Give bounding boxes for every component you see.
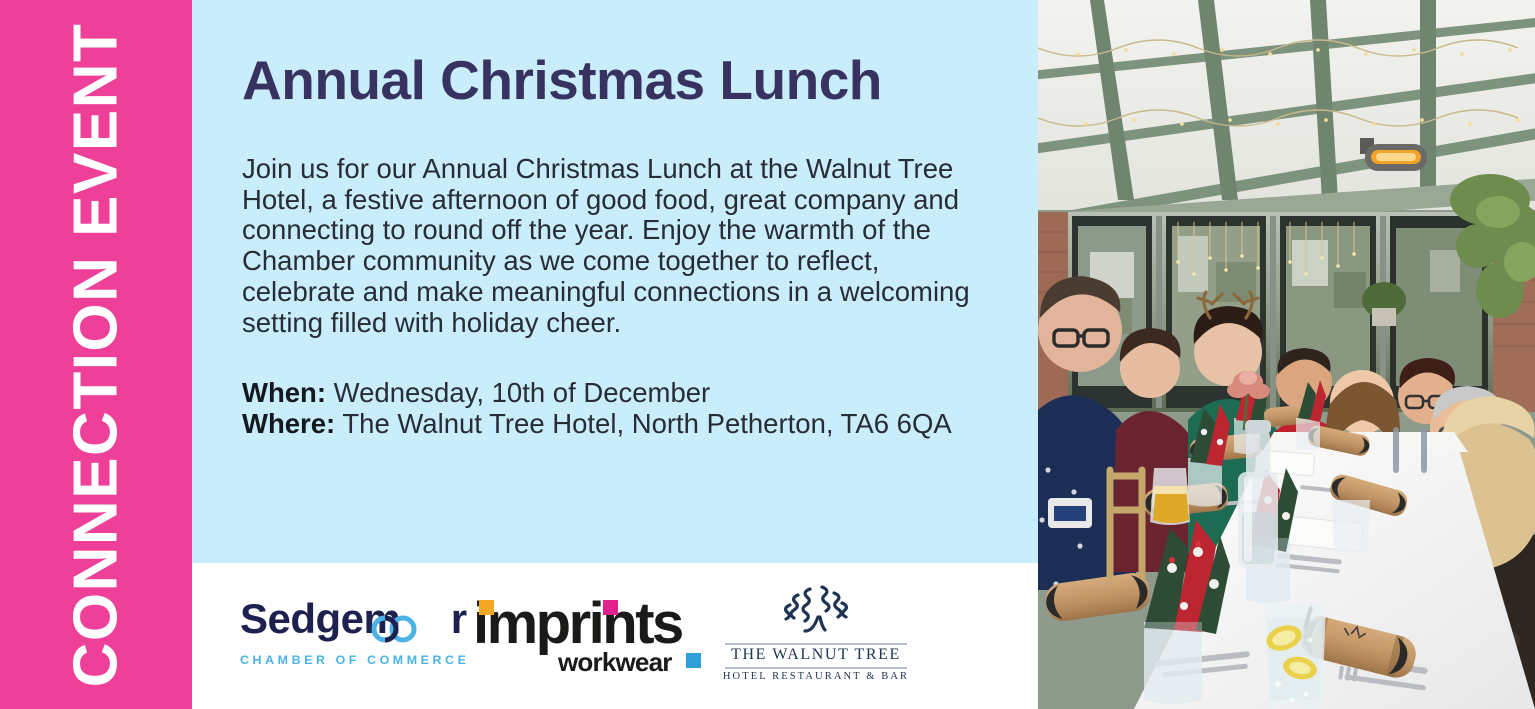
sedgemoor-wordmark-after: r [451,595,467,642]
sedgemoor-tagline: CHAMBER OF COMMERCE [240,653,475,667]
content-inner: Annual Christmas Lunch Join us for our A… [242,52,1002,440]
where-label: Where: [242,408,335,439]
divider-middle [725,667,907,669]
sedgemoor-wordmark: Sedgemoor [240,596,475,642]
event-details: When: Wednesday, 10th of December Where:… [242,377,1002,440]
detail-row-when: When: Wednesday, 10th of December [242,377,1002,409]
walnut-tree-subline: HOTEL RESTAURANT & BAR [721,671,911,682]
when-value: Wednesday, 10th of December [326,377,710,408]
detail-row-where: Where: The Walnut Tree Hotel, North Peth… [242,408,1002,440]
when-label: When: [242,377,326,408]
logo-imprints-workwear: imprints workwear [473,593,693,679]
where-value: The Walnut Tree Hotel, North Petherton, … [335,408,952,439]
sidebar-event-type-label: CONNECTION EVENT [61,22,132,687]
stylized-tree-icon [768,583,863,641]
orange-square-dot-icon [479,600,494,615]
chain-link-icon [371,606,419,634]
logo-sedgemoor-chamber: Sedgemoor CHAMBER OF COMMERCE [240,596,475,676]
event-description: Join us for our Annual Christmas Lunch a… [242,154,977,339]
sidebar-banner: CONNECTION EVENT [0,0,192,709]
imprints-subline: workwear [558,649,672,675]
divider-top [725,643,907,645]
event-photo [1038,0,1535,709]
blue-square-icon [686,653,701,668]
content-panel: Annual Christmas Lunch Join us for our A… [192,0,1038,563]
page-title: Annual Christmas Lunch [242,52,1002,110]
sponsor-logo-strip: Sedgemoor CHAMBER OF COMMERCE imprints w… [192,563,1038,709]
imprints-wordmark: imprints [473,593,693,655]
walnut-tree-name: THE WALNUT TREE [721,646,911,664]
logo-walnut-tree: THE WALNUT TREE HOTEL RESTAURANT & BAR [721,583,911,688]
magenta-square-dot-icon [603,600,618,615]
event-poster: CONNECTION EVENT Annual Christmas Lunch … [0,0,1535,709]
